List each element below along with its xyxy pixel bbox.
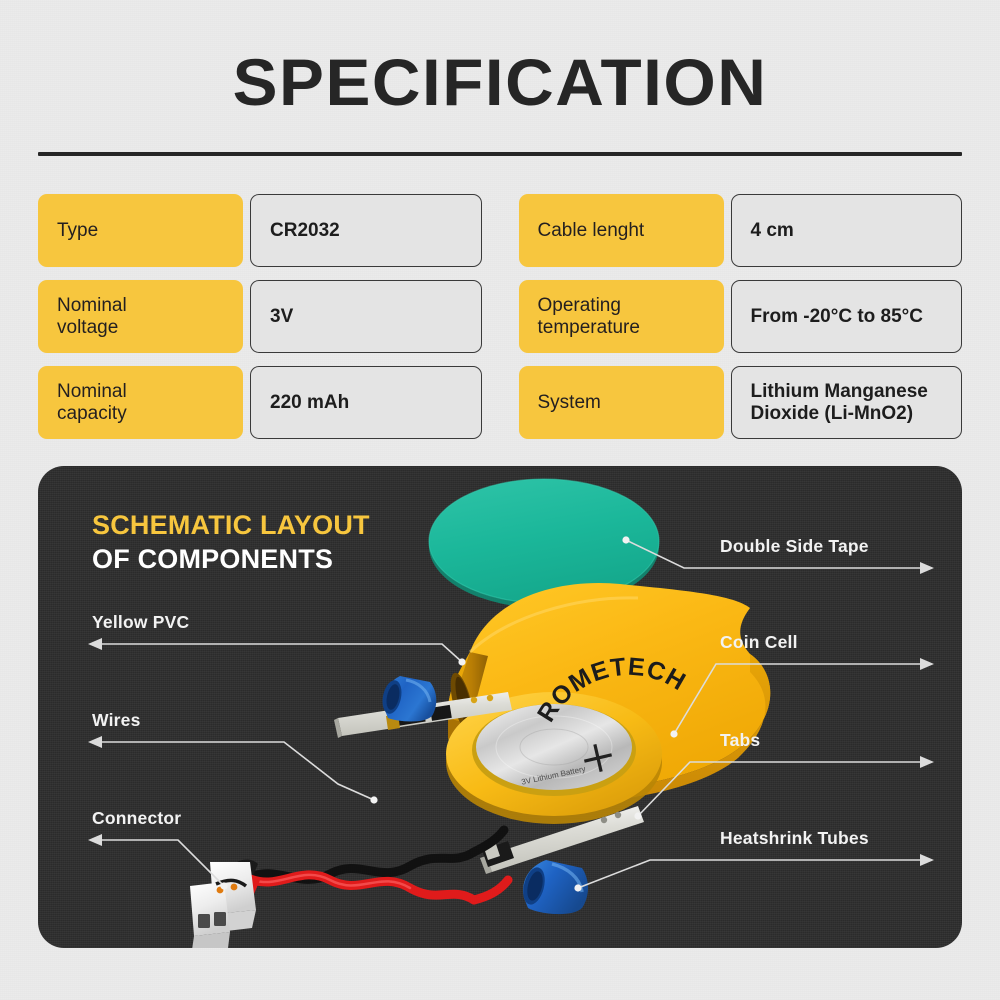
spec-value-operating-temperature: From -20°C to 85°C <box>731 280 963 353</box>
leader-heatshrink-tubes <box>578 860 924 888</box>
spec-label-cable-length: Cable lenght <box>519 194 724 267</box>
anchor-coin-cell <box>670 730 677 737</box>
arrowhead-heatshrink-tubes <box>920 854 934 866</box>
spec-value-system-line1: Lithium Manganese <box>751 381 928 402</box>
specification-infographic: SPECIFICATION Type CR2032 Cable lenght 4… <box>0 0 1000 1000</box>
spec-value-nominal-voltage: 3V <box>250 280 482 353</box>
spec-label-operating-temperature-line2: temperature <box>538 317 640 338</box>
arrowhead-double-side-tape <box>920 562 934 574</box>
callout-label-yellow-pvc: Yellow PVC <box>92 612 189 633</box>
spec-label-type: Type <box>38 194 243 267</box>
callout-label-coin-cell: Coin Cell <box>720 632 798 653</box>
callout-label-wires: Wires <box>92 710 141 731</box>
spec-label-nominal-capacity: Nominal capacity <box>38 366 243 439</box>
spec-table: Type CR2032 Cable lenght 4 cm Nominal vo… <box>38 194 962 439</box>
schematic-heading: SCHEMATIC LAYOUT OF COMPONENTS <box>92 508 370 576</box>
spec-value-nominal-capacity: 220 mAh <box>250 366 482 439</box>
spec-value-type: CR2032 <box>250 194 482 267</box>
schematic-heading-line1: SCHEMATIC LAYOUT <box>92 508 370 542</box>
spec-row-nominal-voltage: Nominal voltage 3V <box>38 280 482 353</box>
spec-label-operating-temperature: Operating temperature <box>519 280 724 353</box>
callout-label-connector: Connector <box>92 808 181 829</box>
anchor-tabs <box>634 812 641 819</box>
callout-label-double-side-tape: Double Side Tape <box>720 536 869 557</box>
spec-row-nominal-capacity: Nominal capacity 220 mAh <box>38 366 482 439</box>
spec-label-operating-temperature-line1: Operating <box>538 295 621 316</box>
anchor-double-side-tape <box>622 536 629 543</box>
spec-label-nominal-voltage: Nominal voltage <box>38 280 243 353</box>
spec-row-system: System Lithium Manganese Dioxide (Li-MnO… <box>519 366 963 439</box>
callout-label-heatshrink-tubes: Heatshrink Tubes <box>720 828 869 849</box>
leader-yellow-pvc <box>100 644 462 662</box>
page-title: SPECIFICATION <box>0 46 1000 118</box>
schematic-panel: SCHEMATIC LAYOUT OF COMPONENTS <box>38 466 962 948</box>
spec-value-system: Lithium Manganese Dioxide (Li-MnO2) <box>731 366 963 439</box>
arrowhead-coin-cell <box>920 658 934 670</box>
spec-label-system: System <box>519 366 724 439</box>
anchor-yellow-pvc <box>458 658 465 665</box>
spec-label-nominal-voltage-line1: Nominal <box>57 295 127 316</box>
spec-label-nominal-capacity-line2: capacity <box>57 403 127 424</box>
spec-label-nominal-voltage-line2: voltage <box>57 317 118 338</box>
leader-tabs <box>638 762 924 816</box>
spec-row-operating-temperature: Operating temperature From -20°C to 85°C <box>519 280 963 353</box>
spec-row-cable-length: Cable lenght 4 cm <box>519 194 963 267</box>
spec-value-cable-length: 4 cm <box>731 194 963 267</box>
anchor-connector <box>220 882 227 889</box>
schematic-heading-line2: OF COMPONENTS <box>92 542 370 576</box>
leader-wires <box>100 742 374 800</box>
arrowhead-wires <box>88 736 102 748</box>
spec-value-system-line2: Dioxide (Li-MnO2) <box>751 403 914 424</box>
title-divider <box>38 152 962 156</box>
arrowhead-tabs <box>920 756 934 768</box>
arrowhead-yellow-pvc <box>88 638 102 650</box>
callout-label-tabs: Tabs <box>720 730 760 751</box>
leader-coin-cell <box>674 664 924 734</box>
spec-label-nominal-capacity-line1: Nominal <box>57 381 127 402</box>
anchor-heatshrink-tubes <box>574 884 581 891</box>
spec-row-type: Type CR2032 <box>38 194 482 267</box>
arrowhead-connector <box>88 834 102 846</box>
leader-connector <box>100 840 224 886</box>
anchor-wires <box>370 796 377 803</box>
